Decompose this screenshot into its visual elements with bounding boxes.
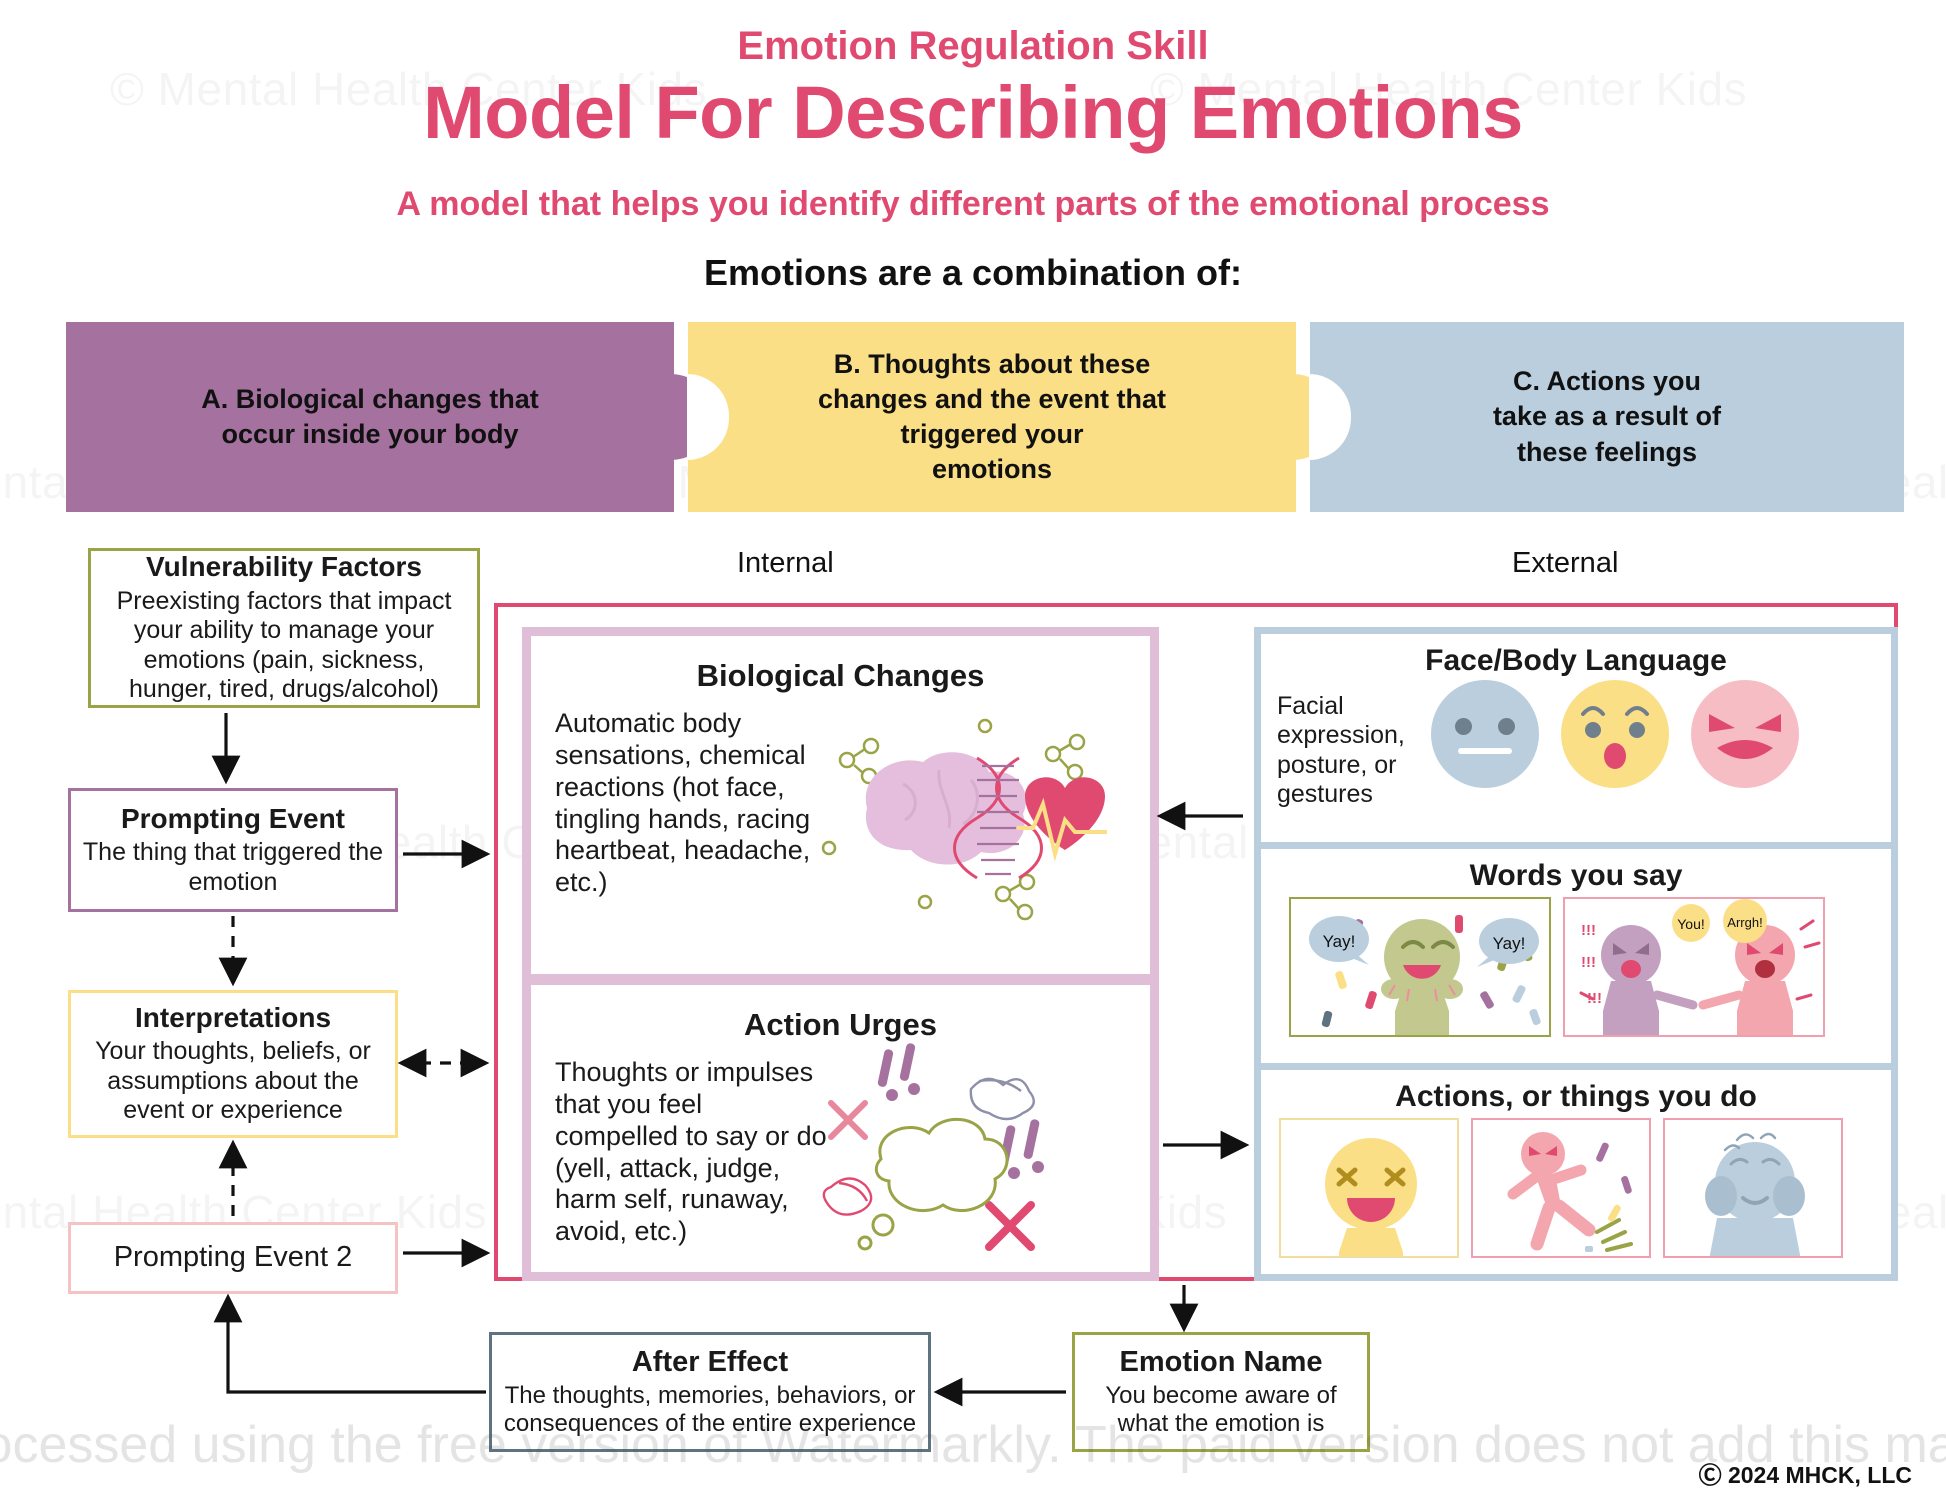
external-divider — [1261, 1063, 1891, 1070]
internal-column: Biological Changes Automatic body sensat… — [522, 627, 1159, 1281]
section-actions: Actions, or things you do — [1261, 1070, 1891, 1274]
banner-piece-a-label: A. Biological changes that occur inside … — [167, 382, 573, 452]
speech-yay-right: Yay! — [1493, 934, 1526, 953]
box-body: You become aware of what the emotion is — [1085, 1382, 1357, 1439]
banner-piece-b: B. Thoughts about these changes and the … — [688, 322, 1296, 512]
watermark-processing-notice: Processed using the free version of Wate… — [0, 1415, 1946, 1475]
action-panel-happy — [1279, 1118, 1459, 1258]
banner-piece-c: C. Actions you take as a result of these… — [1310, 322, 1904, 512]
box-title: Prompting Event — [81, 803, 385, 835]
section-body: Thoughts or impulses that you feel compe… — [531, 1043, 831, 1248]
words-panels: Yay! Yay! — [1289, 897, 1825, 1037]
action-urges-illustration — [813, 1029, 1143, 1279]
box-body: Preexisting factors that impact your abi… — [101, 587, 467, 705]
section-title: Action Urges — [531, 985, 1150, 1043]
neutral-face-icon — [1431, 680, 1539, 788]
section-action-urges: Action Urges Thoughts or impulses that y… — [531, 985, 1150, 1272]
section-title: Face/Body Language — [1261, 634, 1891, 678]
section-title: Biological Changes — [531, 636, 1150, 694]
combination-label: Emotions are a combination of: — [0, 252, 1946, 294]
angry-face-icon — [1691, 680, 1799, 788]
banner-piece-a: A. Biological changes that occur inside … — [66, 322, 674, 512]
speech-you: You! — [1677, 916, 1705, 932]
section-words-you-say: Words you say — [1261, 849, 1891, 1063]
external-divider — [1261, 842, 1891, 849]
argument-mark-3: !!! — [1587, 990, 1602, 1007]
box-prompting-event-2: Prompting Event 2 — [68, 1222, 398, 1294]
section-biological-changes: Biological Changes Automatic body sensat… — [531, 636, 1150, 974]
section-title: Actions, or things you do — [1261, 1070, 1891, 1114]
section-face-body-language: Face/Body Language Facial expression, po… — [1261, 634, 1891, 842]
surprised-face-icon — [1561, 680, 1669, 788]
speech-arrgh: Arrgh! — [1727, 915, 1762, 930]
internal-divider — [531, 974, 1150, 985]
box-body: The thing that triggered the emotion — [81, 838, 385, 897]
face-body-note: Facial expression, posture, or gestures — [1277, 692, 1417, 809]
poster-kicker: Emotion Regulation Skill — [0, 24, 1946, 69]
box-body: The thoughts, memories, behaviors, or co… — [502, 1382, 918, 1439]
combination-banner: A. Biological changes that occur inside … — [66, 322, 1904, 512]
box-title: Interpretations — [81, 1002, 385, 1034]
poster-canvas: © Mental Health Center Kids © Mental Hea… — [0, 0, 1946, 1504]
section-title: Words you say — [1261, 849, 1891, 893]
speech-yay-left: Yay! — [1323, 932, 1356, 951]
external-column: Face/Body Language Facial expression, po… — [1254, 627, 1898, 1281]
face-row — [1431, 680, 1799, 788]
words-panel-argument: !!! !!! !!! You! Arrgh! — [1563, 897, 1825, 1037]
copyright-footer: Ⓒ 2024 MHCK, LLC — [1699, 1456, 1912, 1490]
box-title: Emotion Name — [1085, 1346, 1357, 1379]
argument-mark-1: !!! — [1581, 922, 1596, 939]
action-panel-crying — [1663, 1118, 1843, 1258]
box-interpretations: Interpretations Your thoughts, beliefs, … — [68, 990, 398, 1138]
banner-piece-c-label: C. Actions you take as a result of these… — [1459, 364, 1755, 469]
action-panels — [1279, 1118, 1843, 1258]
box-prompting-event: Prompting Event The thing that triggered… — [68, 788, 398, 912]
poster-subtitle: A model that helps you identify differen… — [0, 185, 1946, 224]
page-title: Model For Describing Emotions — [0, 70, 1946, 155]
label-internal: Internal — [737, 547, 834, 580]
box-title: Prompting Event 2 — [81, 1241, 385, 1274]
arrow-after-to-prompt2 — [228, 1300, 486, 1392]
action-panel-kick — [1471, 1118, 1651, 1258]
box-title: Vulnerability Factors — [101, 551, 467, 583]
box-body: Your thoughts, beliefs, or assumptions a… — [81, 1037, 385, 1126]
box-vulnerability-factors: Vulnerability Factors Preexisting factor… — [88, 548, 480, 708]
brain-heart-illustration — [807, 688, 1137, 928]
box-title: After Effect — [502, 1346, 918, 1379]
section-body: Automatic body sensations, chemical reac… — [531, 694, 831, 899]
argument-mark-2: !!! — [1581, 954, 1596, 971]
box-emotion-name: Emotion Name You become aware of what th… — [1072, 1332, 1370, 1452]
label-external: External — [1512, 547, 1618, 580]
words-panel-happy: Yay! Yay! — [1289, 897, 1551, 1037]
banner-piece-b-label: B. Thoughts about these changes and the … — [784, 347, 1200, 487]
box-after-effect: After Effect The thoughts, memories, beh… — [489, 1332, 931, 1452]
